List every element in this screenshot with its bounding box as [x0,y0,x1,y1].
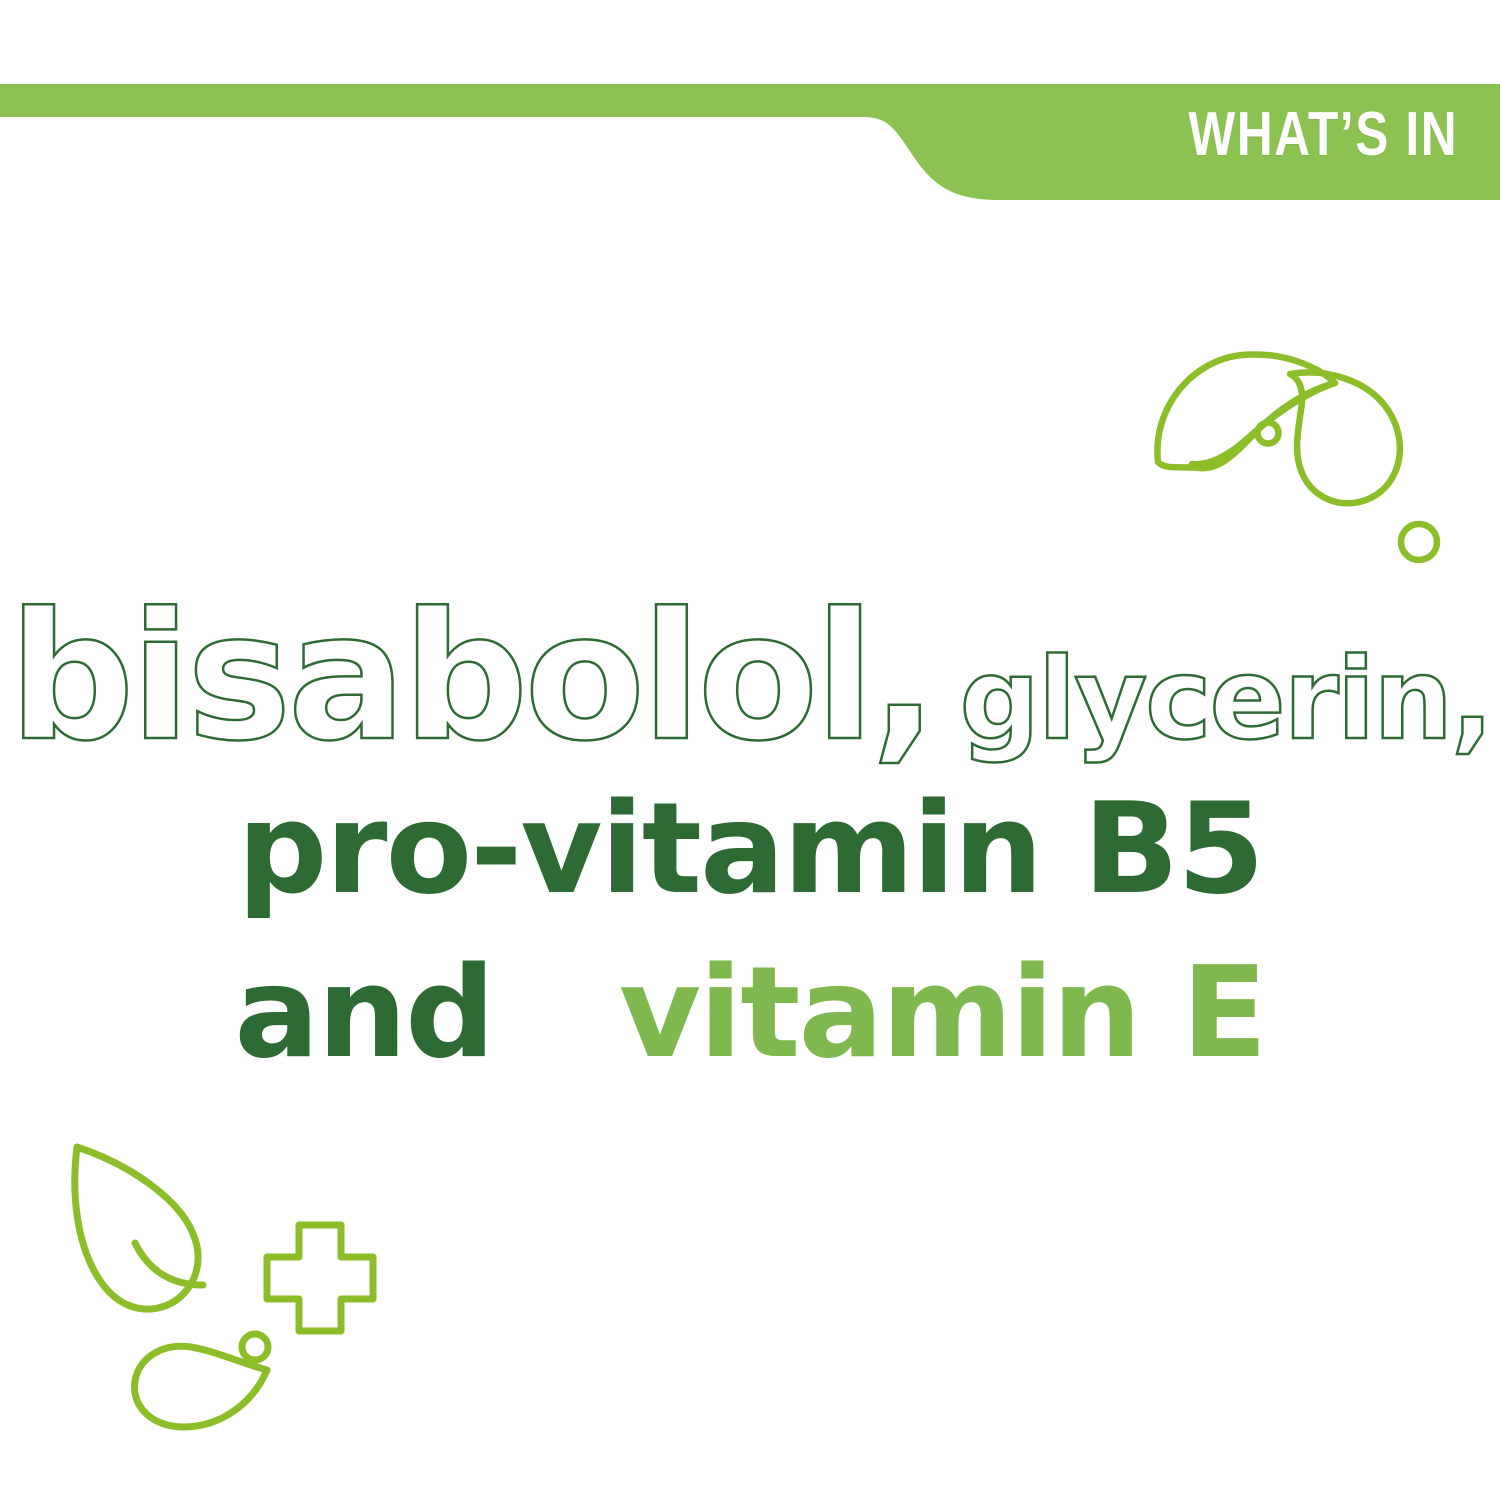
ingredient-line-3: and vitamin E [0,950,1500,1100]
ingredients-block: bisabolol, glycerin, pro-vitamin B5 and … [0,590,1500,1100]
ingredient-line-1: bisabolol, glycerin, [0,590,1500,780]
decoration-bottom-left [35,1135,395,1445]
decoration-top-right [1130,330,1480,600]
ingredient-vitamin-e: vitamin E [619,939,1266,1086]
circle-icon [242,1334,268,1360]
infographic-canvas: WHAT’S IN [0,0,1500,1500]
outer-circle-icon [1401,524,1437,560]
ingredient-bisabolol: bisabolol, [9,590,934,766]
ingredient-pro-vitamin-b5: pro-vitamin B5 [0,786,1500,936]
circle-icon [1258,423,1279,444]
header-banner: WHAT’S IN [0,0,1500,230]
banner-title: WHAT’S IN [1188,104,1458,166]
ingredient-glycerin: glycerin, [960,644,1492,756]
ingredient-conjunction: and [234,939,493,1086]
plus-icon [267,1225,373,1331]
